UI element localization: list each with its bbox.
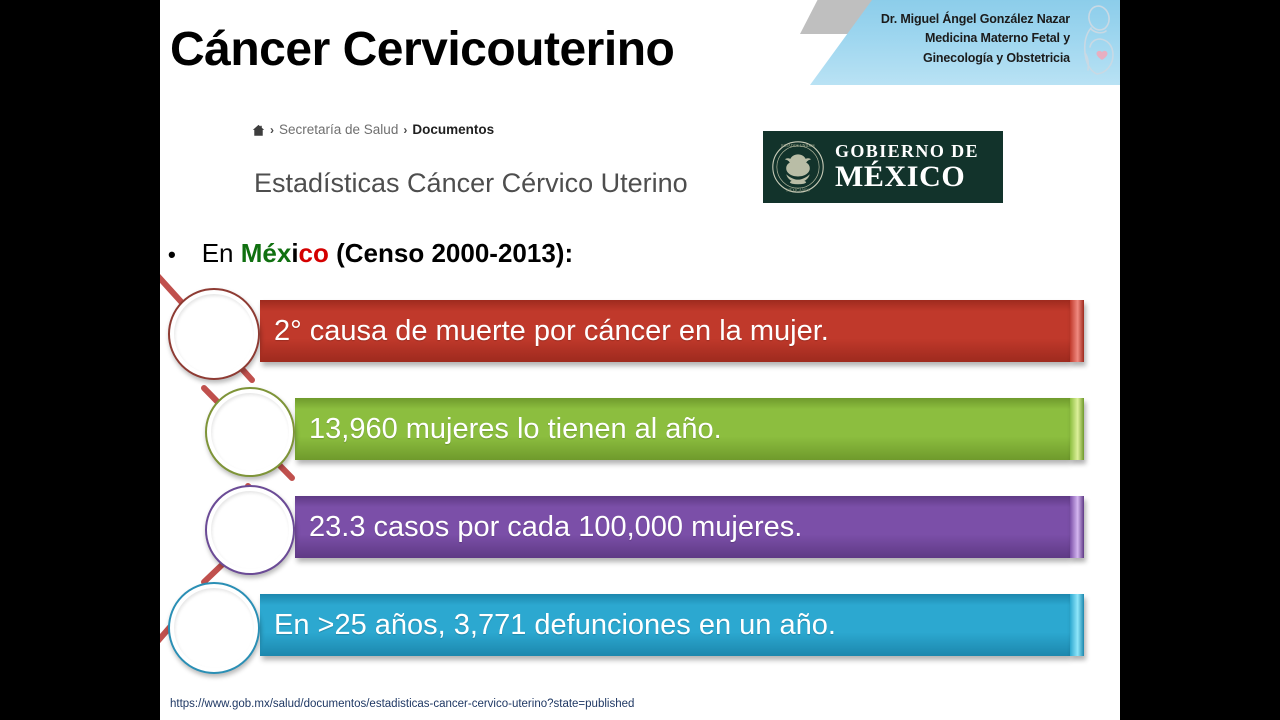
stat-bar-1[interactable]: 2° causa de muerte por cáncer en la muje… <box>260 300 1070 362</box>
bullet-prefix: En <box>202 238 241 268</box>
stat-label-3: 23.3 casos por cada 100,000 mujeres. <box>295 511 802 544</box>
page-title: Cáncer Cervicouterino <box>170 22 674 77</box>
pregnant-woman-icon <box>1075 5 1119 77</box>
stat-circle-1 <box>168 288 260 380</box>
stat-row-3: 23.3 casos por cada 100,000 mujeres. <box>160 488 1120 566</box>
stat-label-4: En >25 años, 3,771 defunciones en un año… <box>260 609 836 642</box>
stat-row-2: 13,960 mujeres lo tienen al año. <box>160 390 1120 468</box>
svg-text:ESTADOS UNIDOS: ESTADOS UNIDOS <box>781 143 814 148</box>
bullet-line: • En México (Censo 2000-2013): <box>168 238 573 269</box>
stat-circle-3 <box>205 485 295 575</box>
credential-line-3: Ginecología y Obstetricia <box>820 49 1070 68</box>
presenter-credentials: Dr. Miguel Ángel González Nazar Medicina… <box>820 10 1070 68</box>
slide-stage: Dr. Miguel Ángel González Nazar Medicina… <box>0 0 1280 720</box>
mexico-green-part: Méx <box>241 238 292 268</box>
stat-bar-cap-3 <box>1070 496 1084 558</box>
stat-bar-4[interactable]: En >25 años, 3,771 defunciones en un año… <box>260 594 1070 656</box>
mexico-red-part: co <box>299 238 329 268</box>
stat-circle-4 <box>168 582 260 674</box>
breadcrumb: › Secretaría de Salud › Documentos <box>252 122 494 137</box>
mexican-eagle-seal-icon: ESTADOS UNIDOS MEXICANOS <box>771 140 825 194</box>
slide-canvas: Dr. Miguel Ángel González Nazar Medicina… <box>160 0 1120 720</box>
stat-bar-cap-1 <box>1070 300 1084 362</box>
svg-text:MEXICANOS: MEXICANOS <box>786 187 810 192</box>
home-icon[interactable] <box>252 124 265 137</box>
letterbox-left <box>0 0 160 720</box>
stat-row-1: 2° causa de muerte por cáncer en la muje… <box>160 292 1120 370</box>
stat-row-4: En >25 años, 3,771 defunciones en un año… <box>160 586 1120 664</box>
gobierno-de-mexico-logo: ESTADOS UNIDOS MEXICANOS GOBIERNO DE MÉX… <box>763 131 1003 203</box>
bullet-suffix: (Censo 2000-2013): <box>329 238 573 268</box>
breadcrumb-separator-2: › <box>402 123 408 137</box>
stat-circle-2 <box>205 387 295 477</box>
credential-line-2: Medicina Materno Fetal y <box>820 29 1070 48</box>
gob-logo-words: GOBIERNO DE MÉXICO <box>835 142 979 192</box>
gob-logo-line1: GOBIERNO DE <box>835 142 979 160</box>
stat-bar-cap-2 <box>1070 398 1084 460</box>
gob-page-heading: Estadísticas Cáncer Cérvico Uterino <box>254 168 688 199</box>
breadcrumb-item-secretaria[interactable]: Secretaría de Salud <box>279 122 398 137</box>
stat-bar-cap-4 <box>1070 594 1084 656</box>
credential-line-1: Dr. Miguel Ángel González Nazar <box>820 10 1070 29</box>
letterbox-right <box>1120 0 1280 720</box>
source-url[interactable]: https://www.gob.mx/salud/documentos/esta… <box>170 698 634 710</box>
stat-label-2: 13,960 mujeres lo tienen al año. <box>295 413 722 446</box>
breadcrumb-item-documentos[interactable]: Documentos <box>412 122 494 137</box>
stat-bar-3[interactable]: 23.3 casos por cada 100,000 mujeres. <box>295 496 1070 558</box>
bullet-text: En México (Censo 2000-2013): <box>202 238 573 269</box>
stat-bar-2[interactable]: 13,960 mujeres lo tienen al año. <box>295 398 1070 460</box>
gob-logo-line2: MÉXICO <box>835 162 979 192</box>
breadcrumb-separator-1: › <box>269 123 275 137</box>
mexico-black-part: i <box>291 238 298 268</box>
stat-label-1: 2° causa de muerte por cáncer en la muje… <box>260 315 829 348</box>
bullet-marker: • <box>168 244 176 266</box>
